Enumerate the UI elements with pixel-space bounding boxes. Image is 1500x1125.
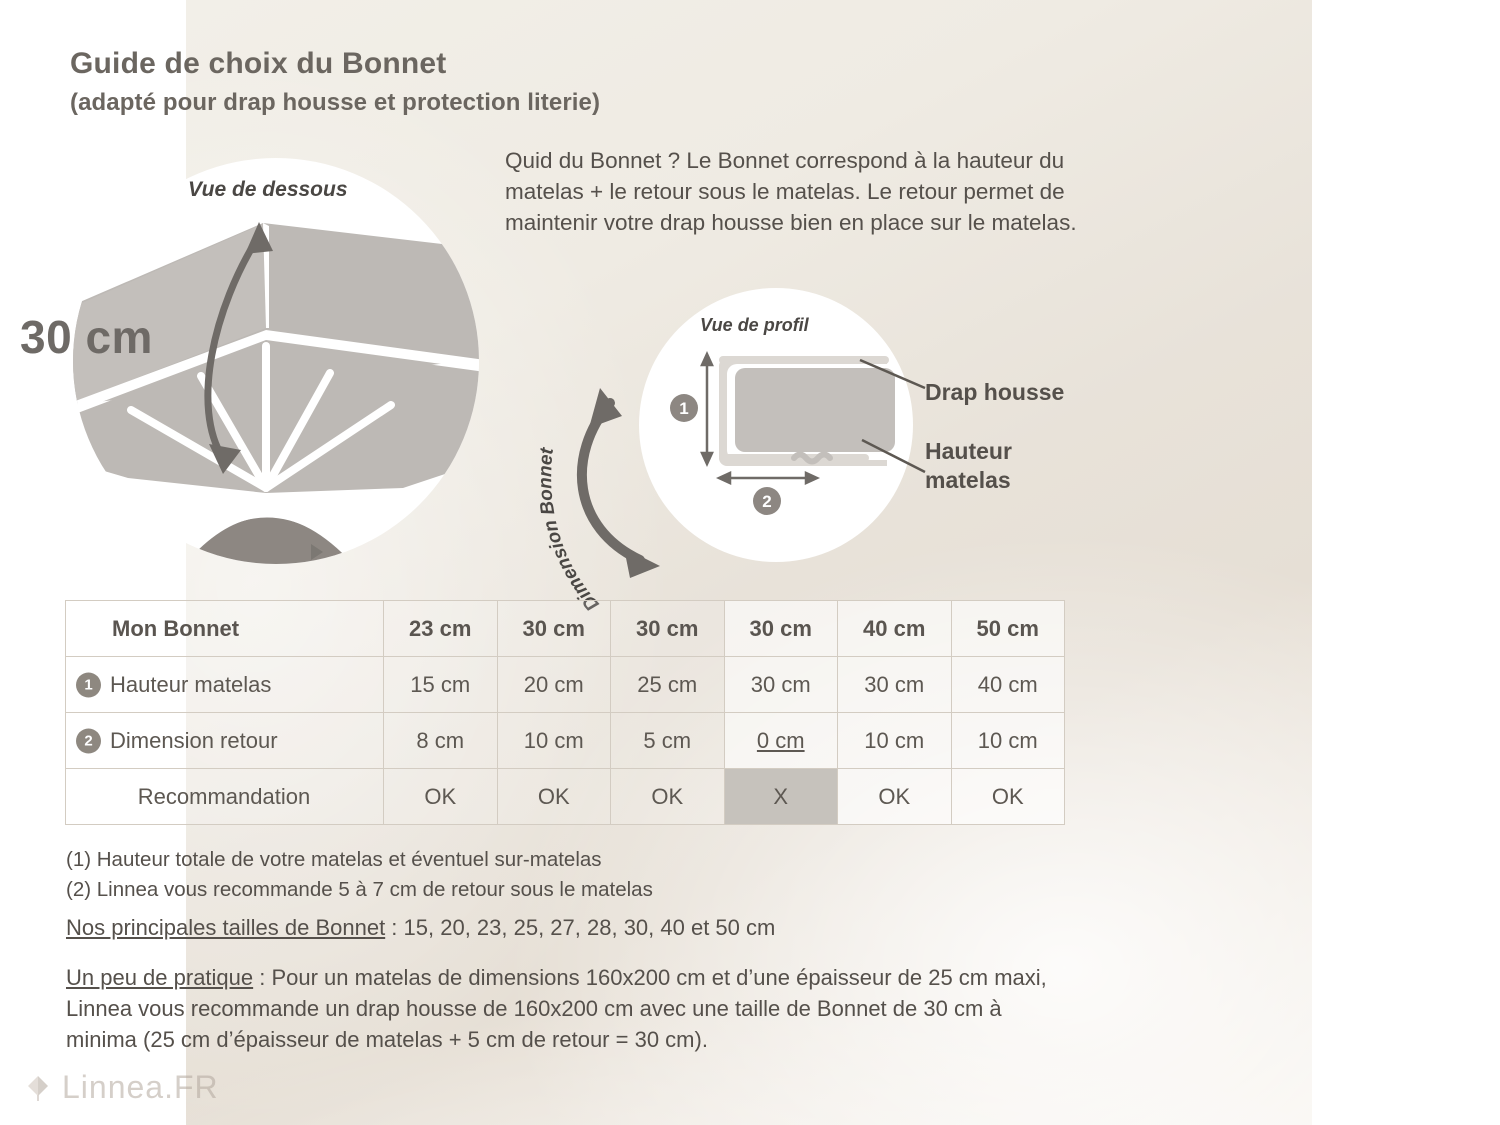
table-cell: 30 cm xyxy=(838,657,952,713)
diamond-leaf-icon xyxy=(25,1073,51,1103)
table-row: Recommandation OK OK OK X OK OK xyxy=(66,769,1065,825)
footnotes: (1) Hauteur totale de votre matelas et é… xyxy=(66,845,653,905)
row-label-dimension-retour: 2 Dimension retour xyxy=(66,713,384,769)
profile-badge-1: 1 xyxy=(679,399,688,418)
row-label-text: Dimension retour xyxy=(110,728,278,753)
table-header-cell: 30 cm xyxy=(611,601,725,657)
table-cell: 10 cm xyxy=(497,713,611,769)
table-cell: 15 cm xyxy=(384,657,498,713)
table-cell: 25 cm xyxy=(611,657,725,713)
row-label-hauteur-matelas: 1 Hauteur matelas xyxy=(66,657,384,713)
intro-paragraph: Quid du Bonnet ? Le Bonnet correspond à … xyxy=(505,145,1085,238)
callout-drap-housse: Drap housse xyxy=(925,379,1064,406)
table-cell-highlight: 0 cm xyxy=(724,713,838,769)
table-header-row: Mon Bonnet 23 cm 30 cm 30 cm 30 cm 40 cm… xyxy=(66,601,1065,657)
bottom-view-measure-label: 30 cm xyxy=(20,310,153,364)
table-cell: OK xyxy=(384,769,498,825)
title-block: Guide de choix du Bonnet (adapté pour dr… xyxy=(70,46,600,118)
table-cell: OK xyxy=(951,769,1065,825)
page-title: Guide de choix du Bonnet xyxy=(70,46,600,83)
sizes-value: : 15, 20, 23, 25, 27, 28, 30, 40 et 50 c… xyxy=(385,915,775,940)
table-cell: 10 cm xyxy=(838,713,952,769)
infographic-root: Vue de dessous 30 cm xyxy=(0,0,1500,1125)
table-row: 1 Hauteur matelas 15 cm 20 cm 25 cm 30 c… xyxy=(66,657,1065,713)
bottom-view-caption: Vue de dessous xyxy=(188,178,348,202)
table-header-cell: Mon Bonnet xyxy=(66,601,384,657)
footnote-2: (2) Linnea vous recommande 5 à 7 cm de r… xyxy=(66,875,653,905)
practice-label: Un peu de pratique xyxy=(66,965,253,990)
table-header-cell: 30 cm xyxy=(724,601,838,657)
sizes-label: Nos principales tailles de Bonnet xyxy=(66,915,385,940)
table-header-cell: 40 cm xyxy=(838,601,952,657)
bonnet-table-wrap: Mon Bonnet 23 cm 30 cm 30 cm 30 cm 40 cm… xyxy=(65,600,1065,825)
profile-view-caption: Vue de profil xyxy=(700,315,809,336)
table-cell: OK xyxy=(838,769,952,825)
table-header-cell: 30 cm xyxy=(497,601,611,657)
table-cell: 10 cm xyxy=(951,713,1065,769)
table-cell-x: X xyxy=(724,769,838,825)
table-cell: OK xyxy=(611,769,725,825)
callout-hauteur-matelas: Hauteurmatelas xyxy=(925,437,1012,495)
practice-paragraph: Un peu de pratique : Pour un matelas de … xyxy=(66,962,1076,1055)
table-header-cell: 50 cm xyxy=(951,601,1065,657)
footnote-1: (1) Hauteur totale de votre matelas et é… xyxy=(66,845,653,875)
table-cell: 5 cm xyxy=(611,713,725,769)
table-cell: OK xyxy=(497,769,611,825)
profile-badge-2: 2 xyxy=(762,492,771,511)
row-label-recommandation: Recommandation xyxy=(66,769,384,825)
row-badge-2: 2 xyxy=(76,728,101,753)
page-subtitle: (adapté pour drap housse et protection l… xyxy=(70,87,600,118)
table-row: 2 Dimension retour 8 cm 10 cm 5 cm 0 cm … xyxy=(66,713,1065,769)
bonnet-table: Mon Bonnet 23 cm 30 cm 30 cm 30 cm 40 cm… xyxy=(65,600,1065,825)
table-cell: 40 cm xyxy=(951,657,1065,713)
sizes-line: Nos principales tailles de Bonnet : 15, … xyxy=(66,915,775,941)
table-cell: 20 cm xyxy=(497,657,611,713)
row-label-text: Hauteur matelas xyxy=(110,672,271,697)
table-header-cell: 23 cm xyxy=(384,601,498,657)
row-badge-1: 1 xyxy=(76,672,101,697)
table-cell: 30 cm xyxy=(724,657,838,713)
table-cell-text: 0 cm xyxy=(757,728,805,753)
brand-logo-text: Linnea.FR xyxy=(62,1069,219,1106)
table-cell: 8 cm xyxy=(384,713,498,769)
brand-logo[interactable]: Linnea.FR xyxy=(25,1069,219,1106)
